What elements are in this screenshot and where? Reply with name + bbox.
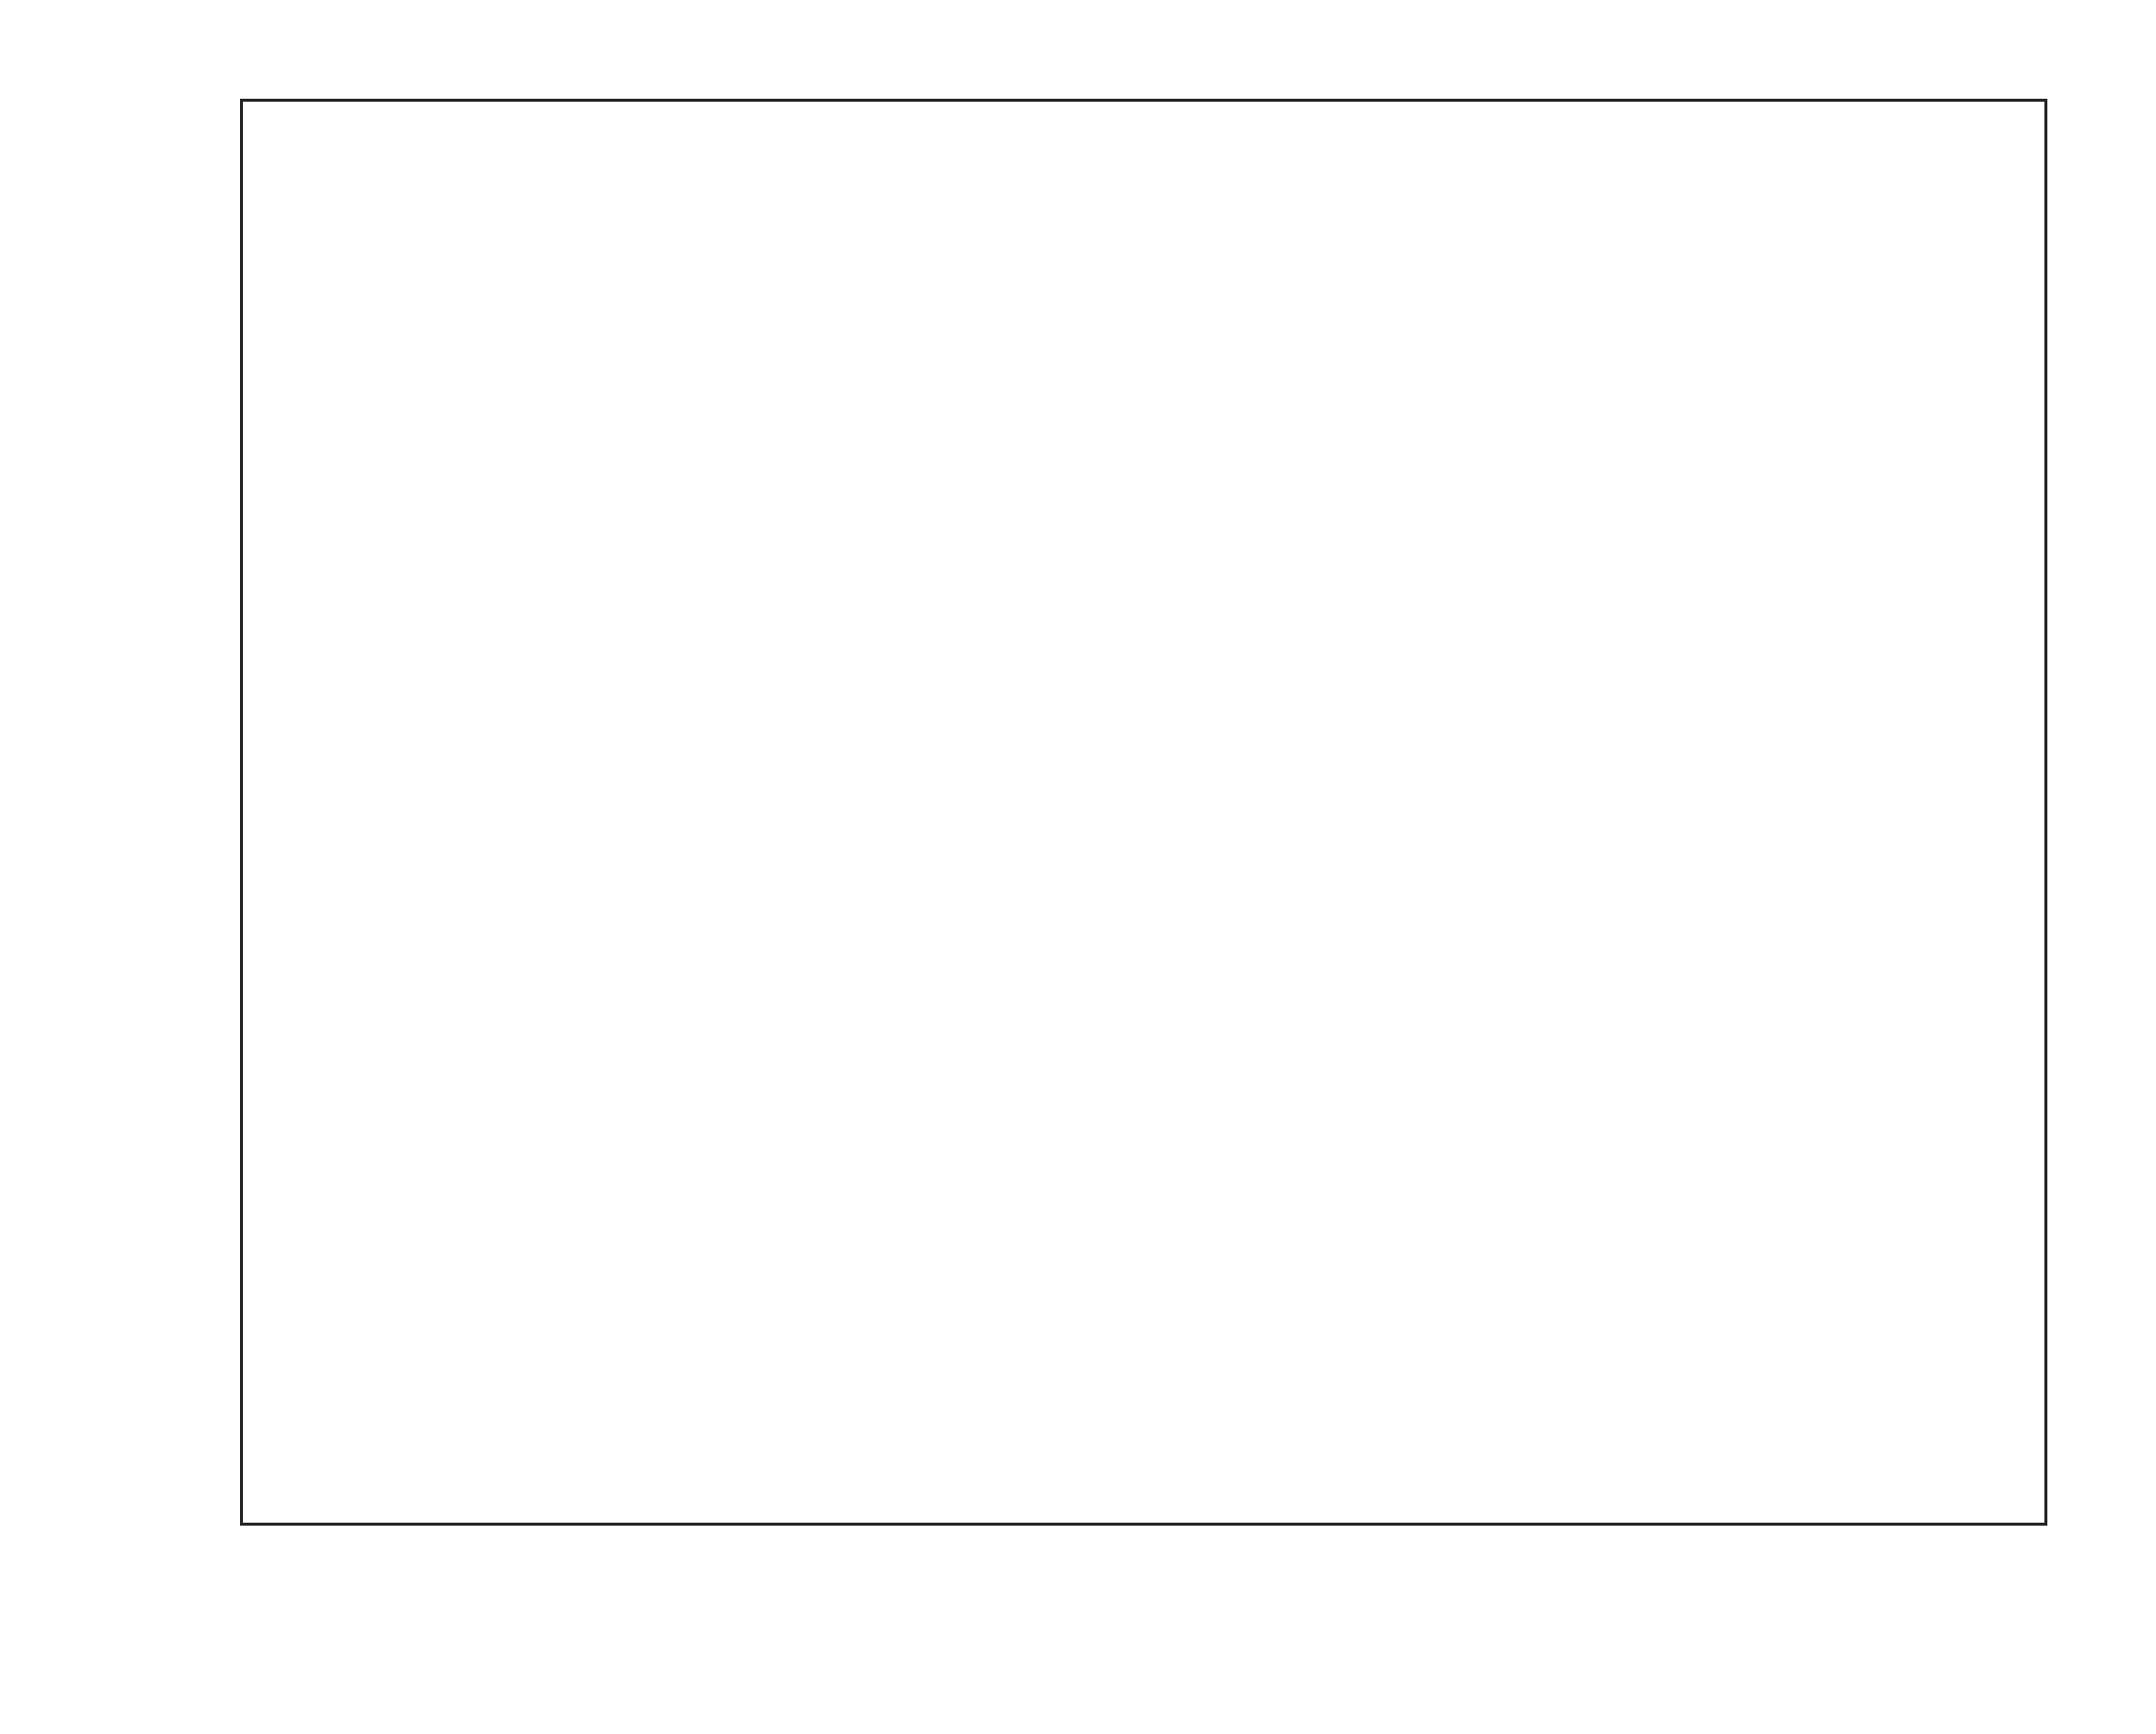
plot-area[interactable] xyxy=(240,99,2047,1526)
reward-line-series xyxy=(243,102,2044,1523)
figure-canvas xyxy=(0,0,2156,1734)
